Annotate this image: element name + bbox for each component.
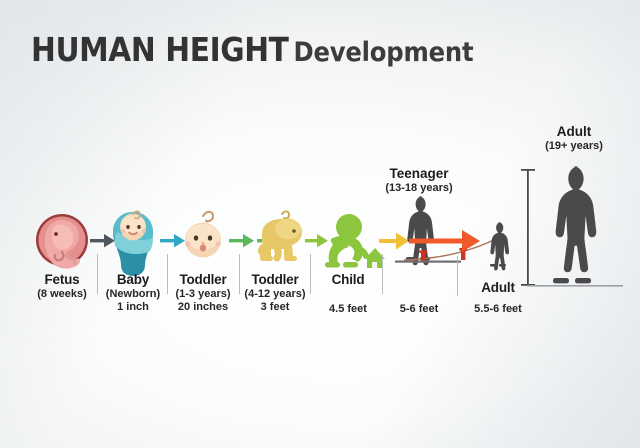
stage-age-toddler-2: (4-12 years) [244, 287, 305, 301]
stage-name-toddler-2: Toddler [244, 272, 305, 287]
divider-4 [310, 254, 311, 294]
stage-height-baby: 1 inch [117, 301, 149, 313]
teenager-age: (13-18 years) [385, 181, 452, 195]
stage-height-child: 4.5 feet [329, 303, 367, 315]
stage-name-toddler-1: Toddler [175, 272, 230, 287]
adult-silhouette-large-icon [553, 166, 596, 283]
title-light: Development [294, 37, 474, 68]
teenager-silhouette-icon [406, 196, 434, 265]
crawling-baby-icon [258, 211, 302, 261]
stage-label-baby: Baby (Newborn) [106, 272, 160, 301]
stage-name-child: Child [332, 272, 365, 287]
stage-name-baby: Baby [106, 272, 160, 287]
stage-label-fetus: Fetus (8 weeks) [37, 272, 87, 301]
stage-height-toddler-1: 20 inches [178, 301, 228, 313]
featured-adult-name: Adult [545, 124, 603, 139]
infographic-canvas: HUMAN HEIGHTDevelopment [0, 0, 640, 448]
arrow-toddler-to-child [305, 234, 336, 247]
stage-name-fetus: Fetus [37, 272, 87, 287]
divider-3 [239, 254, 240, 294]
divider-6 [457, 256, 458, 296]
page-title: HUMAN HEIGHTDevelopment [31, 33, 473, 66]
stage-age-fetus: (8 weeks) [37, 287, 87, 301]
divider-5 [382, 254, 383, 294]
featured-adult-age: (19+ years) [545, 139, 603, 153]
divider-1 [97, 254, 98, 294]
fetus-embryo-icon [36, 214, 88, 269]
stage-label-adult-small: Adult [481, 280, 515, 295]
divider-2 [167, 254, 168, 294]
teenager-baseline [395, 261, 461, 263]
stage-label-toddler-1: Toddler (1-3 years) [175, 272, 230, 301]
title-strong: HUMAN HEIGHT [31, 30, 289, 69]
teenager-top-label: Teenager (13-18 years) [385, 166, 452, 195]
stage-height-teenager: 5-6 feet [400, 303, 439, 315]
height-measure-bracket-icon [521, 169, 535, 286]
stage-age-toddler-1: (1-3 years) [175, 287, 230, 301]
arrow-toddler-to-toddler [229, 234, 262, 247]
stage-name-adult-small: Adult [481, 280, 515, 295]
arrow-child-to-teenager [379, 233, 409, 250]
stage-height-adult-small: 5.5-6 feet [474, 303, 522, 315]
adult-ground-line [527, 285, 623, 287]
stage-label-toddler-2: Toddler (4-12 years) [244, 272, 305, 301]
baby-head-icon [185, 212, 221, 258]
teenager-name: Teenager [385, 166, 452, 181]
child-bending-icon [325, 214, 385, 268]
stage-age-baby: (Newborn) [106, 287, 160, 301]
featured-adult-label: Adult (19+ years) [545, 124, 603, 153]
swaddled-baby-icon [113, 211, 153, 276]
stage-height-toddler-2: 3 feet [261, 301, 290, 313]
adult-silhouette-small-icon [490, 222, 509, 270]
stage-label-child: Child [332, 272, 365, 287]
